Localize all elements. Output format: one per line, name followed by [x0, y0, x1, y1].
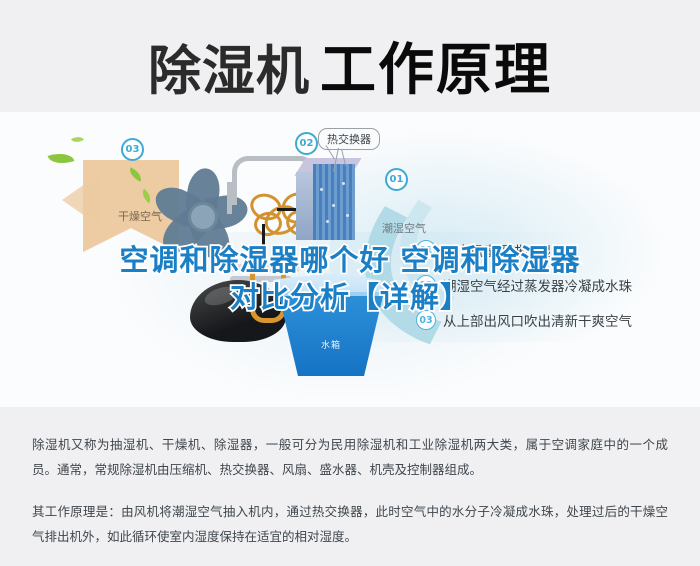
dry-air-label: 干燥空气: [118, 208, 162, 224]
article-body: 除湿机又称为抽湿机、干燥机、除湿器，一般可分为民用除湿机和工业除湿机两大类，属于…: [0, 412, 700, 566]
humid-air-label: 潮湿空气: [382, 220, 426, 236]
step-badge-03: 03: [121, 138, 144, 161]
page-title-part2: 工作原理: [320, 38, 552, 103]
article-paragraph-1: 除湿机又称为抽湿机、干燥机、除湿器，一般可分为民用除湿机和工业除湿机两大类，属于…: [32, 432, 668, 483]
step-badge-02: 02: [295, 132, 318, 155]
article-paragraph-2: 其工作原理是：由风机将潮湿空气抽入机内，通过热交换器，此时空气中的水分子冷凝成水…: [32, 499, 668, 550]
water-tank-label: 水箱: [272, 338, 390, 351]
heat-exchanger-icon: [296, 158, 354, 236]
page-title: 除湿机工作原理: [0, 25, 700, 106]
leaf-icon: [71, 134, 84, 146]
title-band: 除湿机工作原理: [0, 0, 700, 118]
dry-air-arrow-tip-icon: [62, 172, 102, 228]
leaf-icon: [48, 149, 75, 169]
pipe-segment-icon: [227, 182, 250, 214]
page-title-part1: 除湿机: [148, 41, 310, 102]
overlay-headline: 空调和除湿器哪个好 空调和除湿器对比分析【详解】: [110, 242, 590, 316]
step-badge-01: 01: [385, 168, 408, 191]
